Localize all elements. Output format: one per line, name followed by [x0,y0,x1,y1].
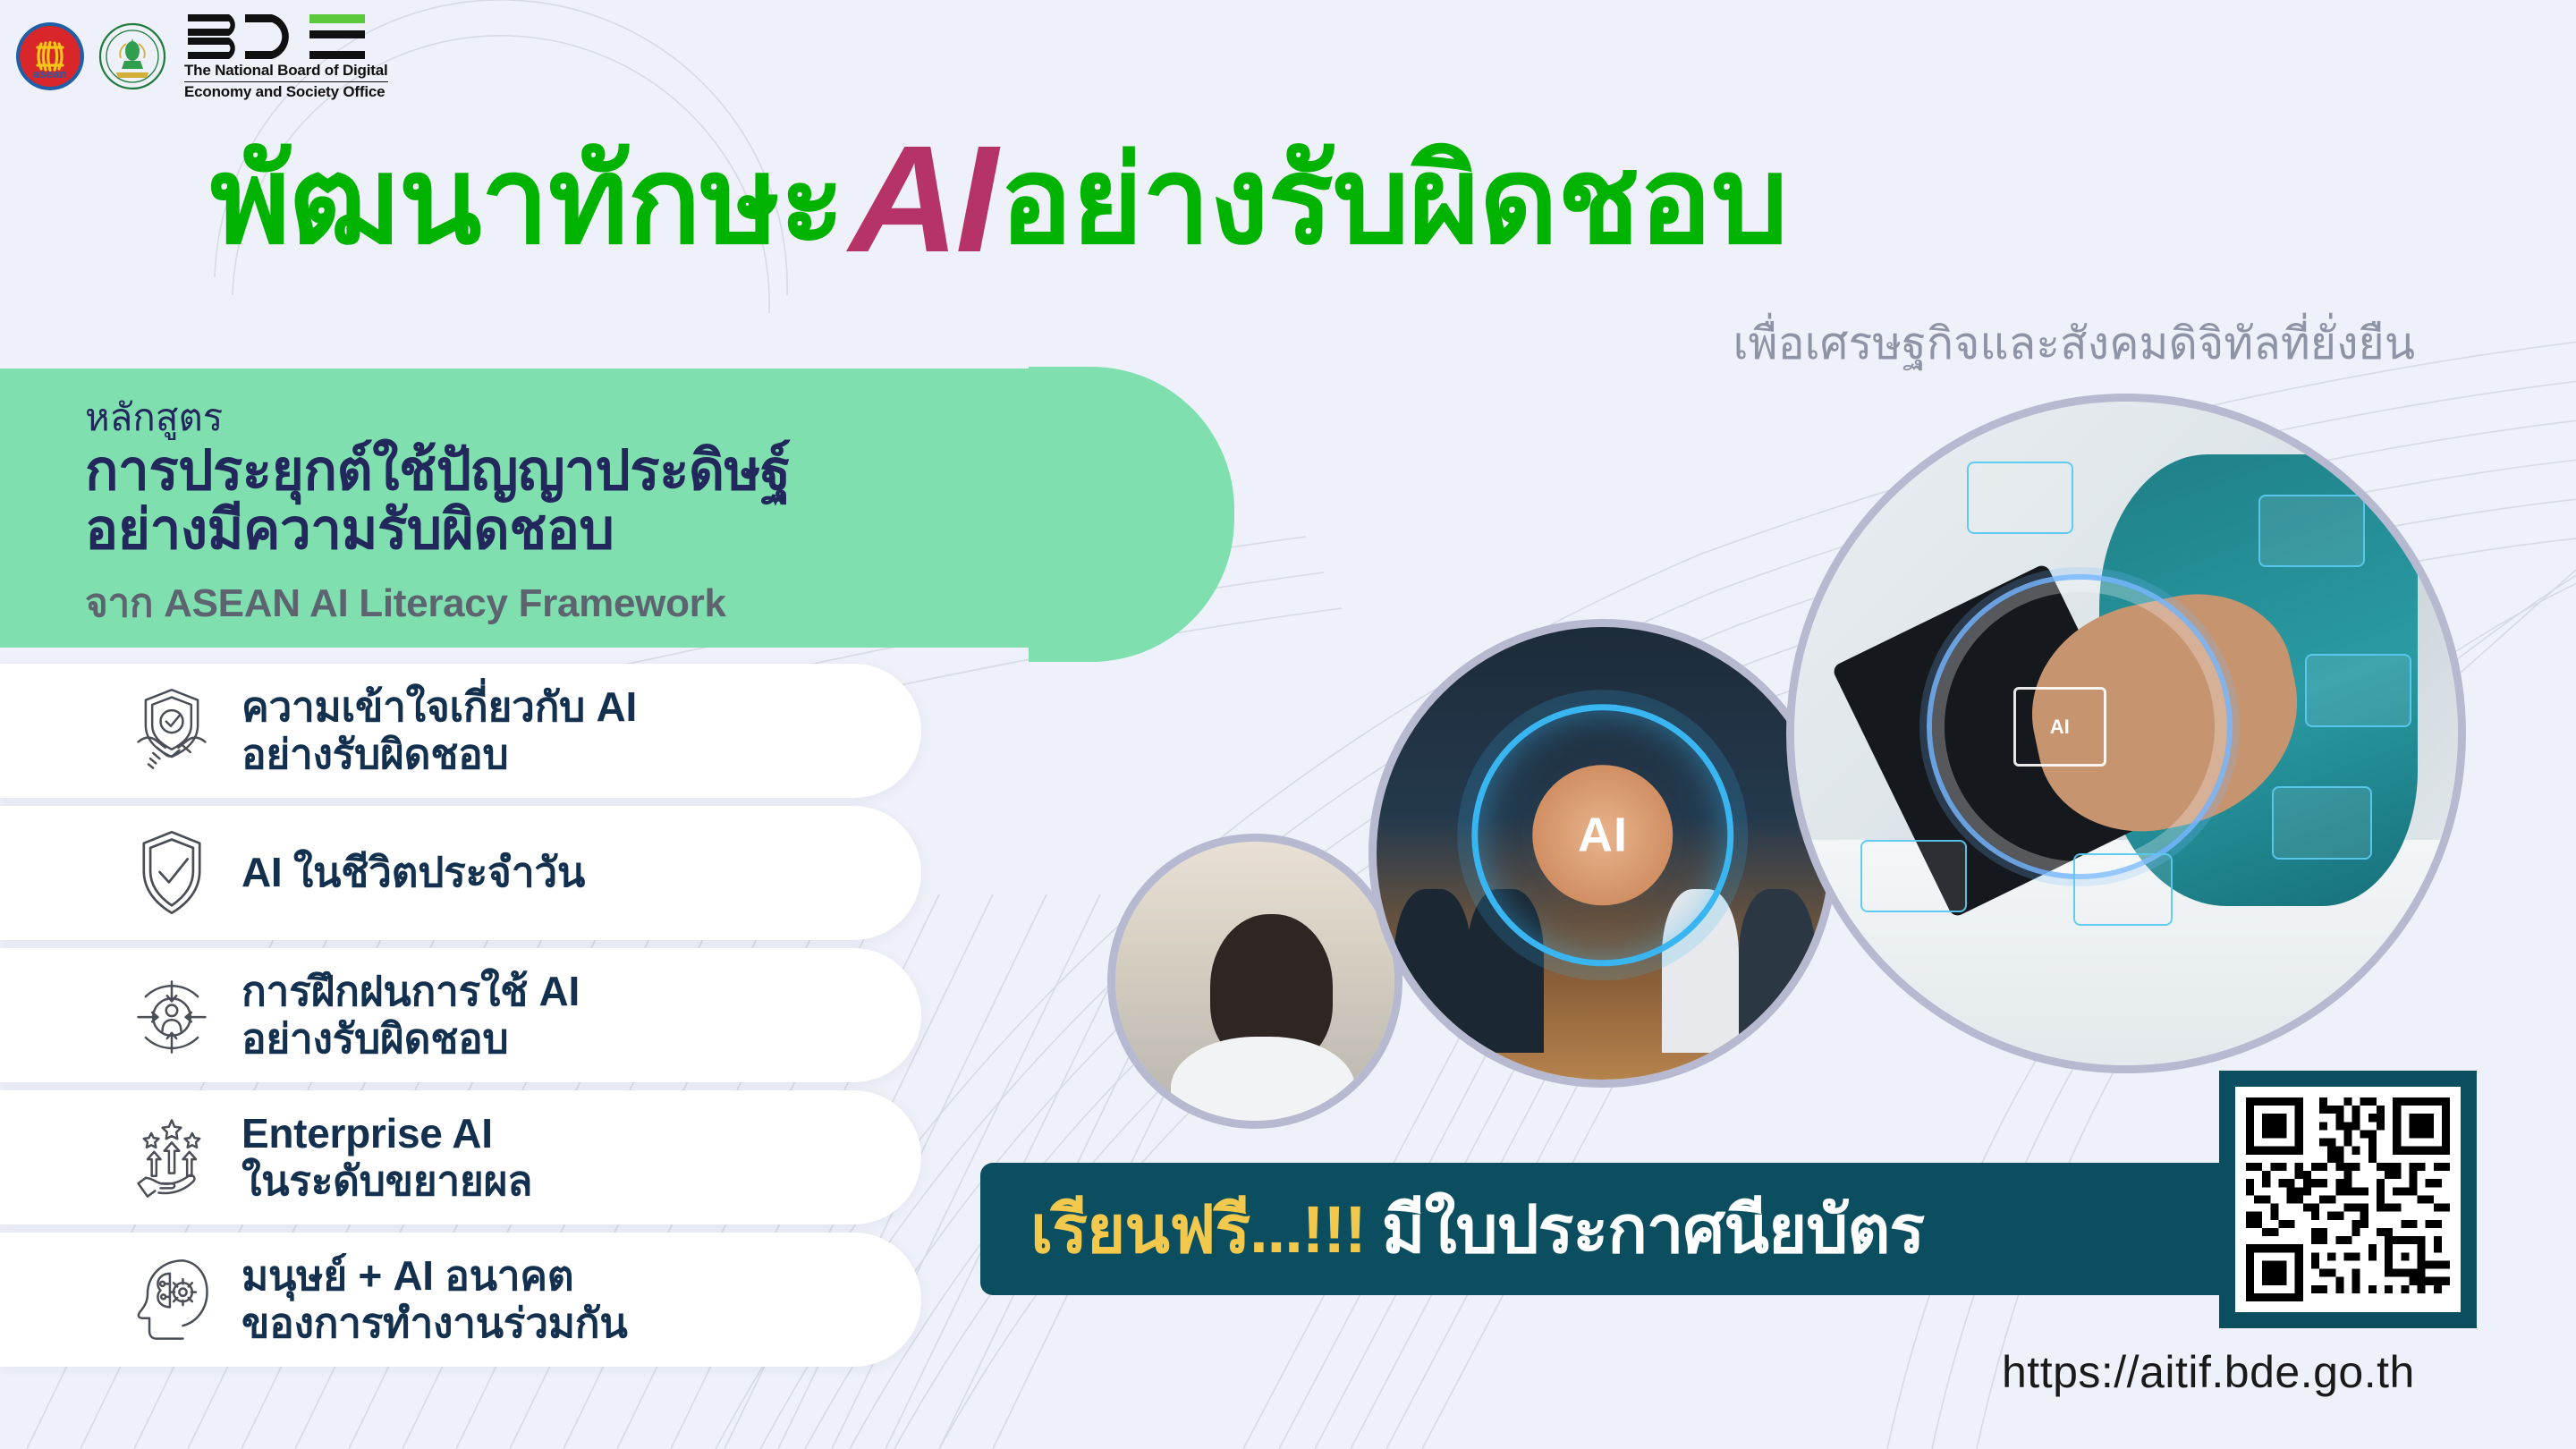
list-item[interactable]: ความเข้าใจเกี่ยวกับ AI อย่างรับผิดชอบ [0,664,921,798]
headline-part-2: อย่างรับผิดชอบ [1000,132,1788,268]
list-item-label: มนุษย์ + AI อนาคต ของการทำงานร่วมกัน [241,1252,627,1348]
list-item-line-1: การฝึกฝนการใช้ AI [241,968,580,1015]
logo-row: asean [16,13,388,100]
asean-logo: asean [16,22,84,90]
cta-free-label: เรียนฟรี...!!! [1030,1176,1366,1282]
qr-code-image [2235,1087,2461,1312]
hand-growth-stars-icon [125,1111,218,1204]
hands-tablet-ai-interface-photo: AI [1786,394,2466,1073]
page-title: พัฒนาทักษะAIอย่างรับผิดชอบ [210,114,1787,267]
list-item-line-2: อย่างรับผิดชอบ [241,1015,580,1063]
headline-part-1: พัฒนาทักษะ [210,132,844,268]
list-item-label: AI ในชีวิตประจำวัน [241,849,585,896]
list-item[interactable]: การฝึกฝนการใช้ AI อย่างรับผิดชอบ [0,948,921,1082]
shield-handshake-icon [125,684,218,777]
team-meeting-ai-hologram-photo [1368,619,1837,1088]
feature-list: ความเข้าใจเกี่ยวกับ AI อย่างรับผิดชอบ AI… [0,664,921,1375]
bde-logo: The National Board of Digital Economy an… [184,13,388,100]
list-item-line-1: Enterprise AI [241,1110,532,1157]
list-item-line-1: ความเข้าใจเกี่ยวกับ AI [241,683,637,731]
page-subtitle: เพื่อเศรษฐกิจและสังคมดิจิทัลที่ยั่งยืน [1733,309,2415,379]
person-target-arrows-icon [125,969,218,1062]
list-item-label: Enterprise AI ในระดับขยายผล [241,1110,532,1206]
headline-ai-highlight: AI [844,123,1000,275]
list-item[interactable]: Enterprise AI ในระดับขยายผล [0,1090,921,1224]
course-framework-source: จาก ASEAN AI Literacy Framework [85,572,1170,634]
site-url[interactable]: https://aitif.bde.go.th [2002,1346,2415,1398]
list-item-line-2: อย่างรับผิดชอบ [241,731,637,778]
cta-banner: เรียนฟรี...!!! มีใบประกาศนียบัตร [980,1163,2376,1295]
course-title-line-2: อย่างมีความรับผิดชอบ [85,501,1170,560]
list-item-line-2: ในระดับขยายผล [241,1157,532,1205]
list-item-label: ความเข้าใจเกี่ยวกับ AI อย่างรับผิดชอบ [241,683,637,779]
shield-check-icon [125,826,218,919]
qr-code[interactable] [2219,1071,2477,1328]
poster-canvas: asean [0,0,2576,1449]
list-item-line-2: ของการทำงานร่วมกัน [241,1300,627,1347]
list-item-label: การฝึกฝนการใช้ AI อย่างรับผิดชอบ [241,968,580,1063]
course-title-line-1: การประยุกต์ใช้ปัญญาประดิษฐ์ [85,442,1170,501]
course-card: หลักสูตร การประยุกต์ใช้ปัญญาประดิษฐ์ อย่… [0,369,1170,648]
woman-at-laptop-photo [1107,834,1402,1129]
list-item-line-1: AI ในชีวิตประจำวัน [241,849,585,896]
list-item-line-1: มนุษย์ + AI อนาคต [241,1252,627,1300]
cta-certificate-label: มีใบประกาศนียบัตร [1382,1176,1924,1282]
bde-line-1: The National Board of Digital [184,63,388,82]
bde-line-2: Economy and Society Office [184,82,388,101]
course-title: การประยุกต์ใช้ปัญญาประดิษฐ์ อย่างมีความร… [85,442,1170,559]
list-item[interactable]: มนุษย์ + AI อนาคต ของการทำงานร่วมกัน [0,1233,921,1367]
ministry-of-digital-economy-logo [97,21,168,92]
bde-wordmark [184,13,388,63]
list-item[interactable]: AI ในชีวิตประจำวัน [0,806,921,940]
course-kicker: หลักสูตร [85,399,1170,436]
head-brain-gear-icon [125,1253,218,1346]
asean-wordmark: asean [16,67,84,80]
